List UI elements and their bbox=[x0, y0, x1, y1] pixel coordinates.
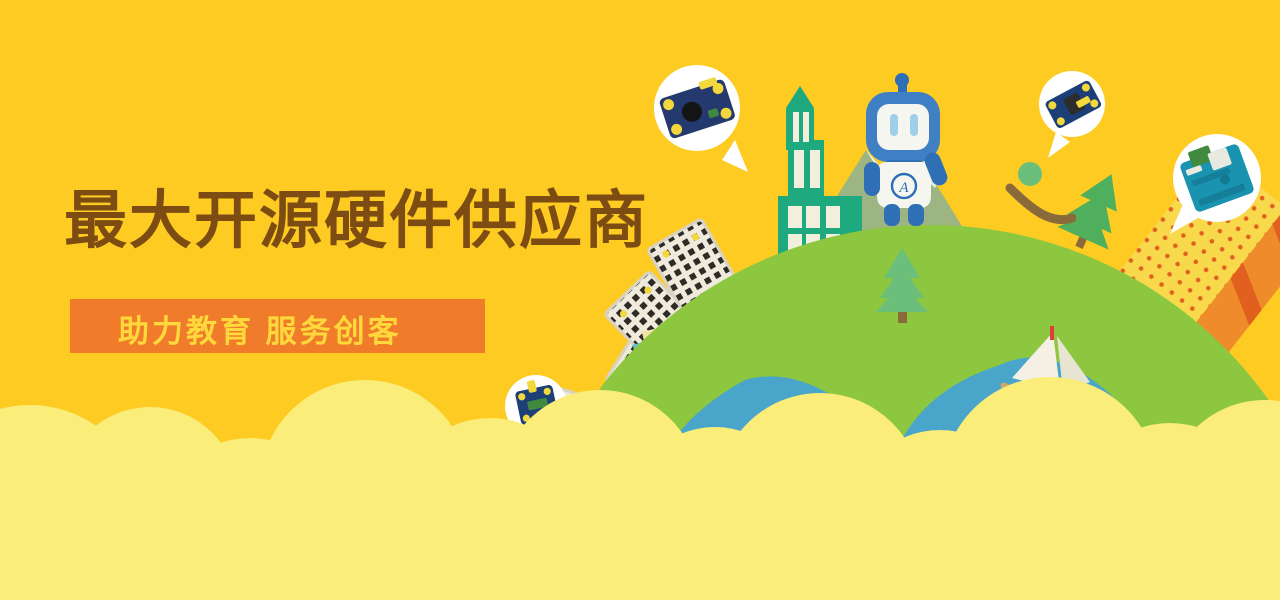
sensor-module-bubble bbox=[654, 65, 748, 172]
teal-house-right bbox=[1089, 419, 1200, 566]
tagline-banner: 助力教育 服务创客 bbox=[70, 299, 485, 353]
ocean-bottom bbox=[818, 595, 1108, 600]
robot-arm-right bbox=[922, 150, 950, 188]
relay-module-bubble bbox=[1039, 71, 1105, 158]
pine-tree-center bbox=[876, 248, 928, 323]
tagline-text: 助力教育 服务创客 bbox=[118, 306, 402, 351]
tilt-sensor-bubble bbox=[505, 375, 600, 437]
teal-skyscraper bbox=[778, 86, 862, 316]
ocean-right bbox=[880, 358, 1155, 600]
yellow-perfboard-tower bbox=[1084, 151, 1280, 400]
green-house-left bbox=[595, 385, 741, 500]
tree-branch-lower bbox=[1012, 422, 1118, 466]
cloud-band bbox=[0, 377, 1280, 600]
arduino-uno-bubble bbox=[1170, 134, 1261, 234]
globe-land bbox=[515, 225, 1280, 600]
robot-head bbox=[866, 92, 940, 162]
bush-right bbox=[1066, 422, 1102, 458]
robot-eye-left bbox=[890, 114, 898, 136]
arduino-mascot-robot: A bbox=[864, 73, 950, 226]
perfboard-tower-mid bbox=[647, 219, 833, 479]
pine-tree-right bbox=[1053, 163, 1137, 259]
robot-leg-left bbox=[884, 204, 900, 226]
robot-logo-letter: A bbox=[898, 180, 909, 196]
tree-branch-upper bbox=[1010, 162, 1072, 220]
robot-logo-circle bbox=[892, 174, 916, 198]
mountain-range bbox=[812, 150, 968, 236]
robot-leg-right bbox=[908, 204, 924, 226]
promo-banner: A bbox=[0, 0, 1280, 600]
globe bbox=[515, 225, 1280, 600]
perfboard-tower-far-left bbox=[606, 331, 815, 491]
robot-face bbox=[877, 104, 929, 150]
ocean-left bbox=[640, 376, 924, 600]
sailboat bbox=[1004, 326, 1090, 395]
robot-eye-right bbox=[910, 114, 918, 136]
perfboard-tower-left bbox=[604, 271, 822, 494]
page-title: 最大开源硬件供应商 bbox=[64, 186, 649, 257]
cream-apartment bbox=[630, 308, 770, 461]
keypad-board-building bbox=[532, 386, 744, 511]
green-apartment-right bbox=[1070, 346, 1193, 501]
robot-torso bbox=[883, 160, 925, 208]
robot-arm-left bbox=[864, 162, 880, 196]
